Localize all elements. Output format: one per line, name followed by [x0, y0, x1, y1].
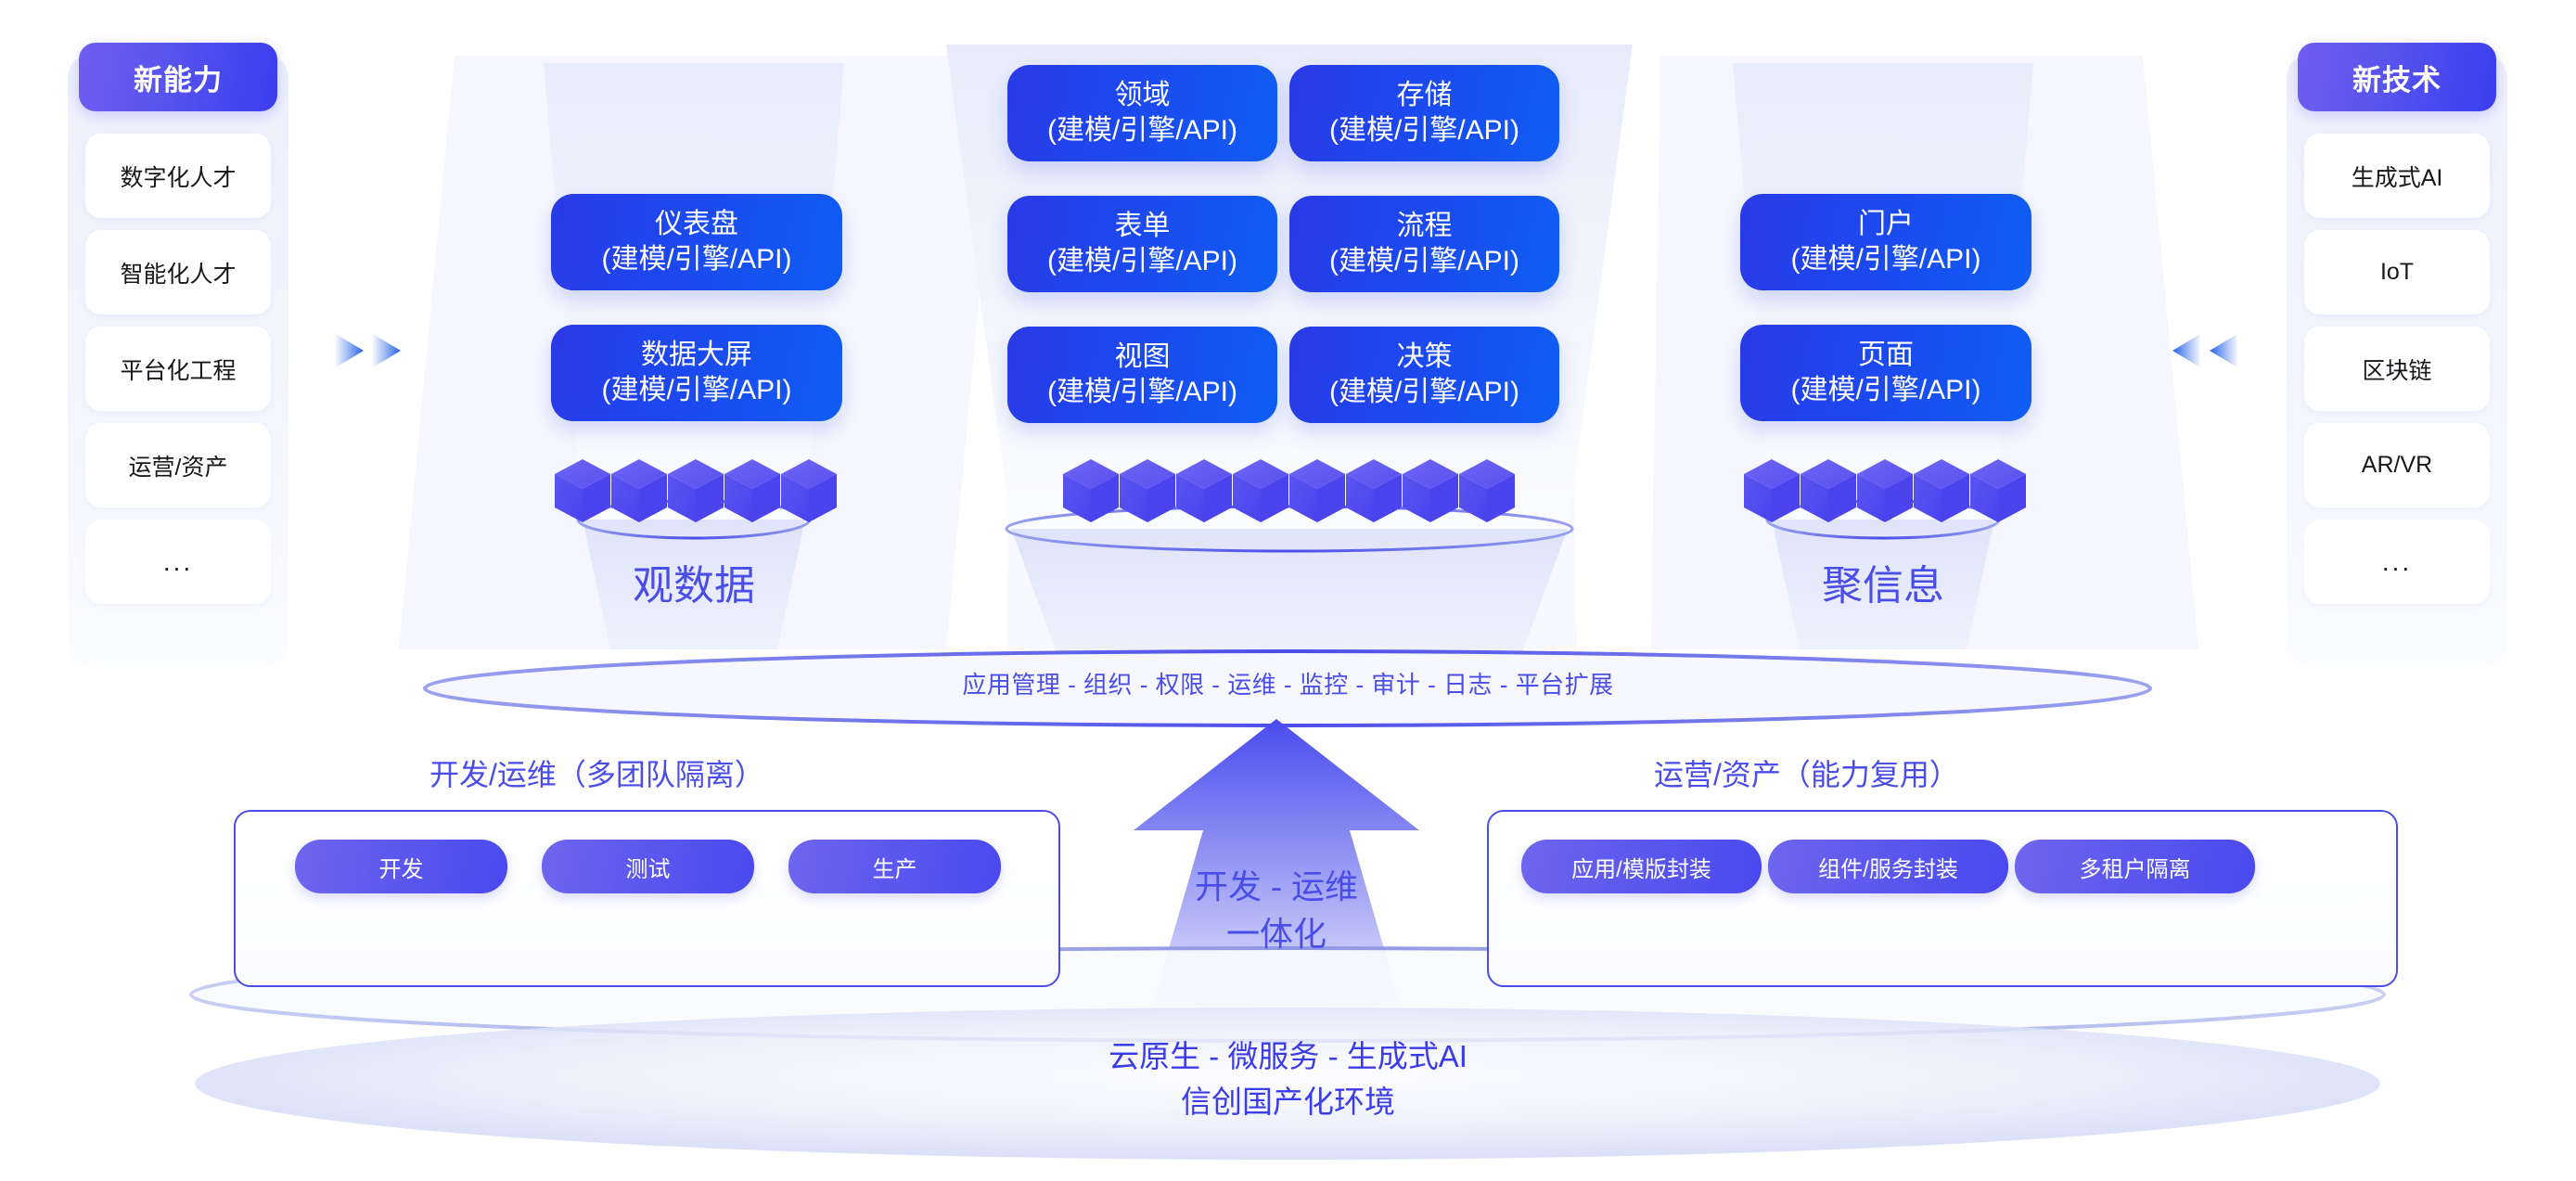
- new-technology-list: 生成式AI IoT 区块链 AR/VR ...: [2304, 134, 2490, 616]
- env-pill-test[interactable]: 测试: [542, 840, 754, 893]
- module-card-title: 领域: [1115, 78, 1171, 113]
- env-pill-dev[interactable]: 开发: [295, 840, 507, 893]
- technology-item-more[interactable]: ...: [2304, 520, 2490, 604]
- module-card-title: 决策: [1397, 340, 1453, 375]
- env-pill-prod[interactable]: 生产: [788, 840, 1001, 893]
- foundation-label: 云原生 - 微服务 - 生成式AI 信创国产化环境: [0, 1034, 2576, 1125]
- funnel-center-cards-col2: 存储 (建模/引擎/API) 流程 (建模/引擎/API) 决策 (建模/引擎/…: [1289, 65, 1559, 423]
- lower-left-box: [234, 810, 1060, 987]
- funnel-label-observe-data: 观数据: [555, 552, 833, 611]
- module-card[interactable]: 门户 (建模/引擎/API): [1740, 194, 2031, 290]
- double-chevron-right-icon: [334, 332, 403, 369]
- module-card-subtitle: (建模/引擎/API): [1047, 113, 1237, 148]
- module-card[interactable]: 页面 (建模/引擎/API): [1740, 325, 2031, 421]
- devops-arrow-line1: 开发 - 运维: [1133, 863, 1420, 910]
- module-card-subtitle: (建模/引擎/API): [1329, 375, 1519, 410]
- module-card-title: 仪表盘: [655, 207, 738, 242]
- capability-item-more[interactable]: ...: [85, 520, 271, 604]
- technology-item[interactable]: IoT: [2304, 230, 2490, 315]
- new-technology-title: 新技术: [2298, 43, 2496, 111]
- module-card[interactable]: 数据大屏 (建模/引擎/API): [551, 325, 842, 421]
- diagram-canvas: 新能力 数字化人才 智能化人才 平台化工程 运营/资产 ... 新技术 生成式A…: [0, 0, 2576, 1181]
- asset-pill-app-template[interactable]: 应用/模版封装: [1521, 840, 1762, 893]
- devops-arrow-line2: 一体化: [1133, 910, 1420, 957]
- asset-pill-component-service[interactable]: 组件/服务封装: [1768, 840, 2008, 893]
- module-card-title: 视图: [1115, 340, 1171, 375]
- lower-right-box: [1487, 810, 2398, 987]
- funnel-center-cards-col1: 领域 (建模/引擎/API) 表单 (建模/引擎/API) 视图 (建模/引擎/…: [1007, 65, 1277, 423]
- module-card[interactable]: 领域 (建模/引擎/API): [1007, 65, 1277, 161]
- module-card[interactable]: 流程 (建模/引擎/API): [1289, 196, 1559, 292]
- platform-capabilities-bar: 应用管理 - 组织 - 权限 - 运维 - 监控 - 审计 - 日志 - 平台扩…: [0, 666, 2576, 700]
- new-capability-panel: 新能力 数字化人才 智能化人才 平台化工程 运营/资产 ...: [68, 54, 288, 667]
- module-card-subtitle: (建模/引擎/API): [1047, 244, 1237, 279]
- capability-item[interactable]: 运营/资产: [85, 423, 271, 507]
- foundation-line1: 云原生 - 微服务 - 生成式AI: [0, 1034, 2576, 1080]
- module-card-title: 表单: [1115, 209, 1171, 244]
- module-card[interactable]: 仪表盘 (建模/引擎/API): [551, 194, 842, 290]
- module-card-subtitle: (建模/引擎/API): [1790, 373, 1980, 408]
- new-capability-title: 新能力: [79, 43, 277, 111]
- module-card[interactable]: 视图 (建模/引擎/API): [1007, 327, 1277, 423]
- module-card[interactable]: 决策 (建模/引擎/API): [1289, 327, 1559, 423]
- module-card-subtitle: (建模/引擎/API): [1329, 244, 1519, 279]
- technology-item[interactable]: AR/VR: [2304, 423, 2490, 507]
- double-chevron-left-icon: [2171, 332, 2239, 369]
- module-card-title: 页面: [1858, 338, 1914, 373]
- capability-item[interactable]: 数字化人才: [85, 134, 271, 218]
- module-card-title: 门户: [1858, 207, 1914, 242]
- capability-item[interactable]: 智能化人才: [85, 230, 271, 315]
- technology-item[interactable]: 生成式AI: [2304, 134, 2490, 218]
- module-card-subtitle: (建模/引擎/API): [601, 373, 791, 408]
- technology-item[interactable]: 区块链: [2304, 327, 2490, 411]
- funnel-label-aggregate-info: 聚信息: [1744, 552, 2022, 611]
- module-card-title: 存储: [1397, 78, 1453, 113]
- foundation-line2: 信创国产化环境: [0, 1080, 2576, 1125]
- lower-right-title: 运营/资产（能力复用）: [1654, 751, 1959, 794]
- module-card[interactable]: 表单 (建模/引擎/API): [1007, 196, 1277, 292]
- module-card-title: 流程: [1397, 209, 1453, 244]
- funnel-right-cards: 门户 (建模/引擎/API) 页面 (建模/引擎/API): [1740, 194, 2031, 421]
- funnel-left-cards: 仪表盘 (建模/引擎/API) 数据大屏 (建模/引擎/API): [551, 194, 842, 421]
- module-card-subtitle: (建模/引擎/API): [1047, 375, 1237, 410]
- background-layer: [0, 0, 2576, 1181]
- cube-row-right: [1744, 459, 2026, 522]
- new-technology-panel: 新技术 生成式AI IoT 区块链 AR/VR ...: [2287, 54, 2507, 667]
- module-card[interactable]: 存储 (建模/引擎/API): [1289, 65, 1559, 161]
- lower-left-title: 开发/运维（多团队隔离）: [429, 751, 764, 794]
- devops-arrow-label: 开发 - 运维 一体化: [1133, 863, 1420, 957]
- cube-row-left: [555, 459, 837, 522]
- module-card-subtitle: (建模/引擎/API): [1329, 113, 1519, 148]
- module-card-subtitle: (建模/引擎/API): [601, 242, 791, 277]
- capability-item[interactable]: 平台化工程: [85, 327, 271, 411]
- asset-pill-multi-tenant[interactable]: 多租户隔离: [2015, 840, 2255, 893]
- module-card-subtitle: (建模/引擎/API): [1790, 242, 1980, 277]
- module-card-title: 数据大屏: [641, 338, 752, 373]
- new-capability-list: 数字化人才 智能化人才 平台化工程 运营/资产 ...: [85, 134, 271, 616]
